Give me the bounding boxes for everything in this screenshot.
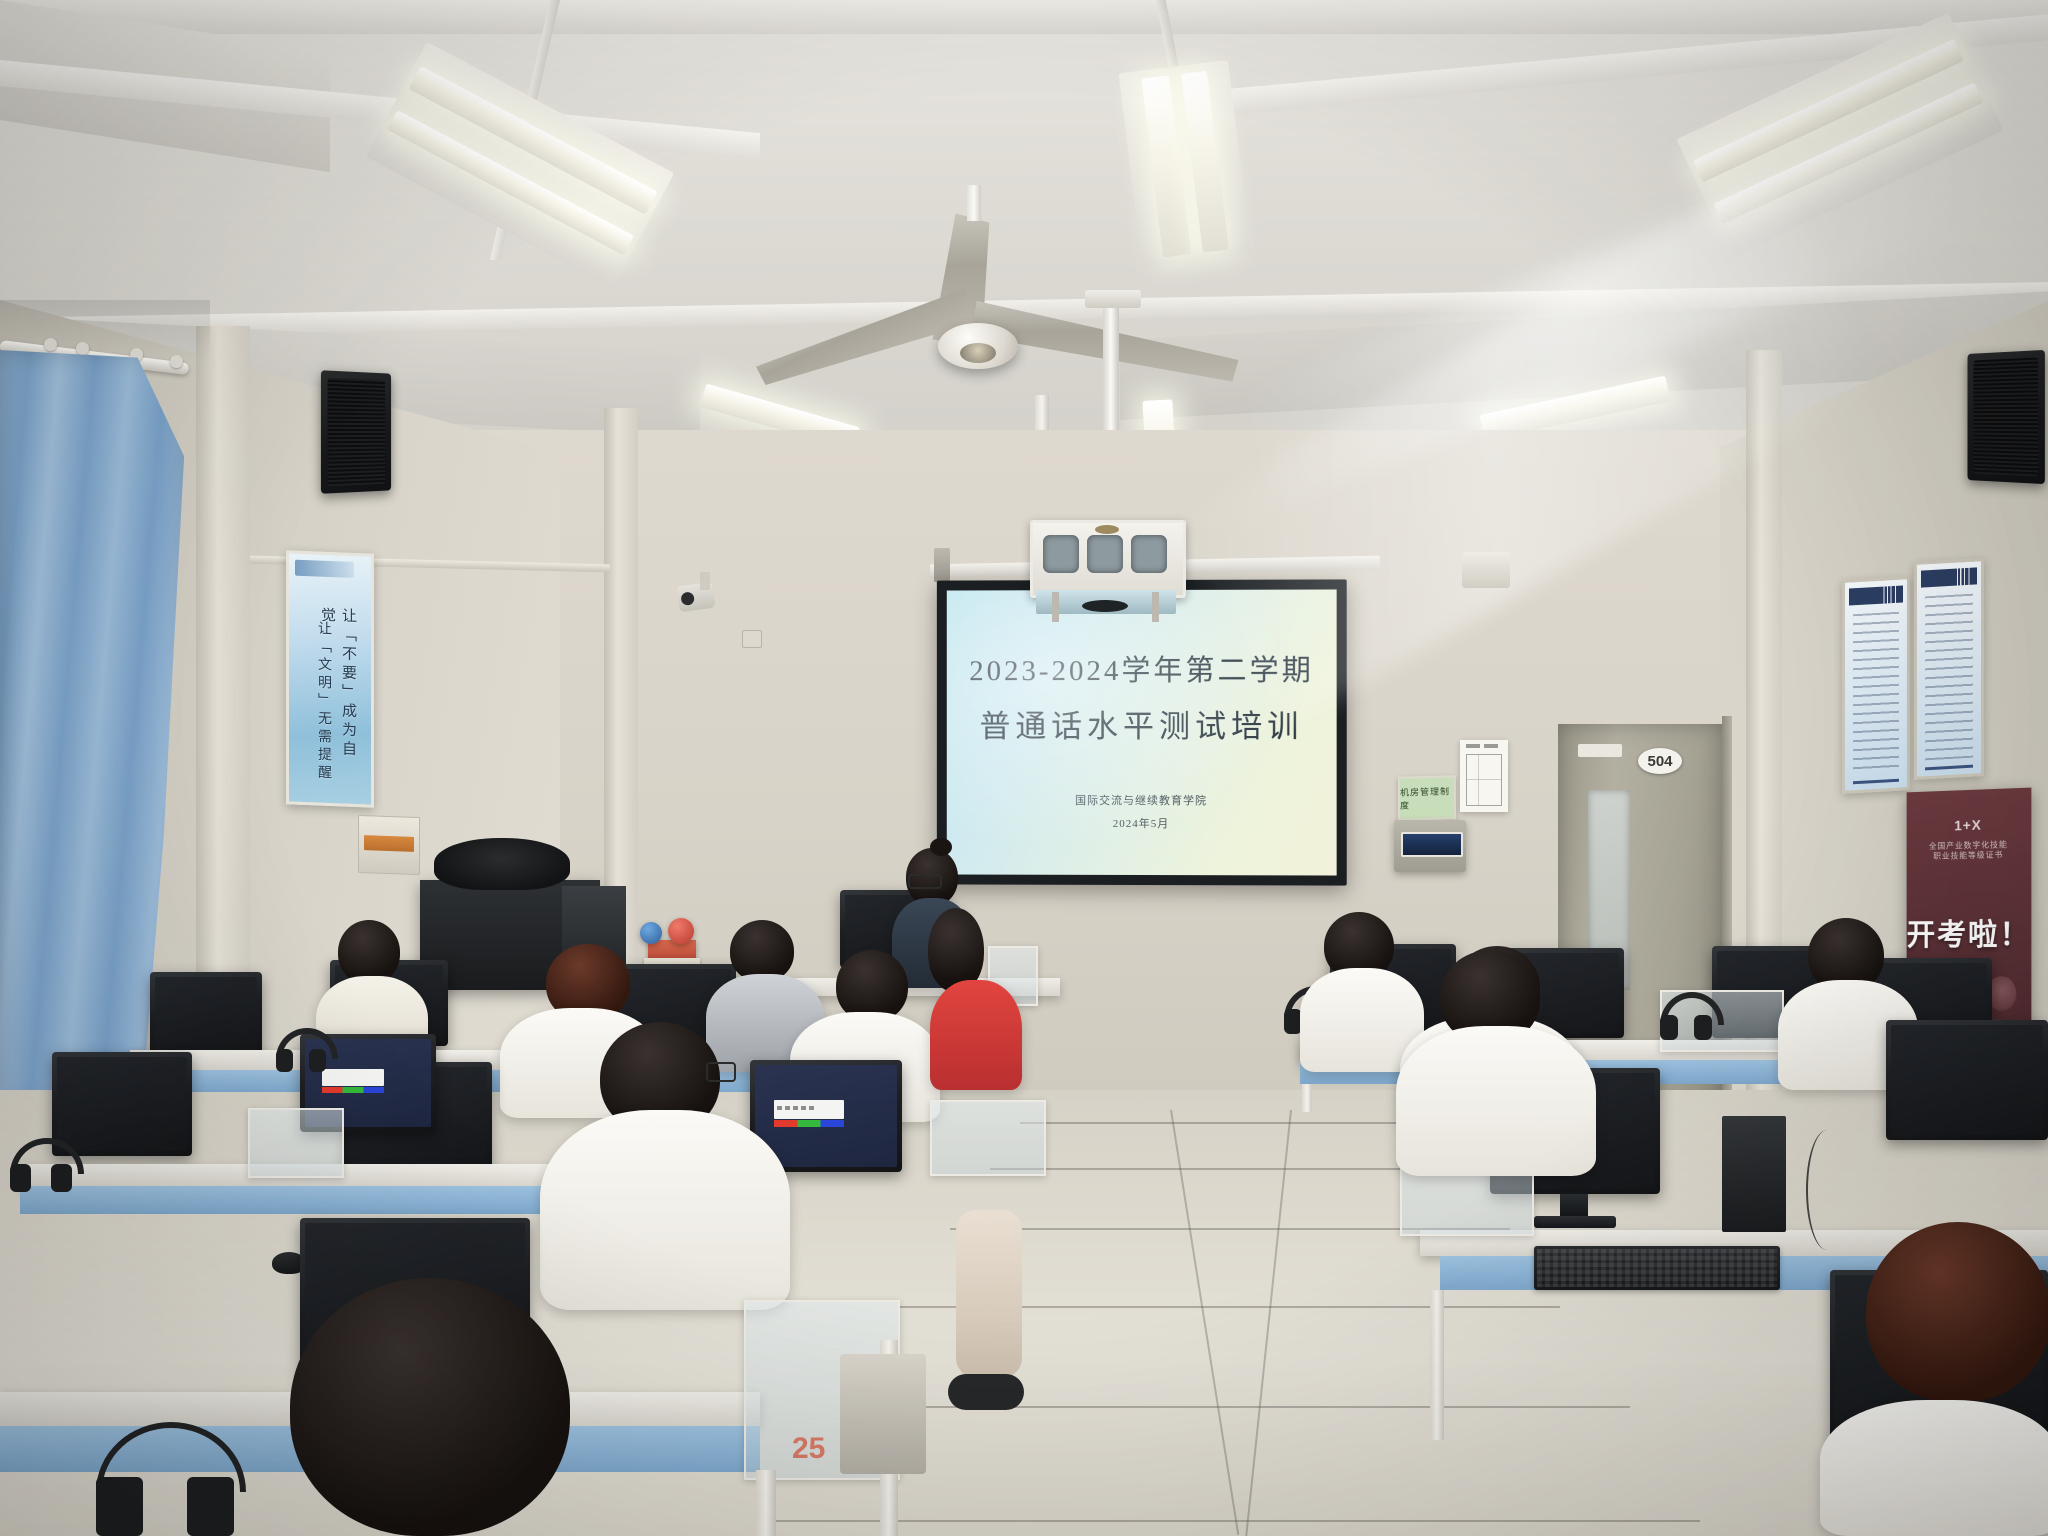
monitor-base-mid-right bbox=[1534, 1216, 1616, 1228]
speaker-grill-right bbox=[1973, 357, 2038, 476]
monitor-mid-left-1 bbox=[52, 1052, 192, 1156]
monitor-dialog-box-2 bbox=[322, 1069, 385, 1086]
student-leg-aisle bbox=[956, 1210, 1022, 1378]
student-body-mid-right bbox=[1396, 1026, 1596, 1176]
floor-tile-line-h2 bbox=[990, 1168, 1470, 1170]
projector-mount-bracket bbox=[1085, 290, 1141, 308]
wall-poster-left: 让「不要」成为自觉 让「文明」无需提醒 bbox=[286, 550, 374, 807]
slide-title-line2: 普通话水平测试培训 bbox=[947, 701, 1337, 746]
monitor-mid-right-2 bbox=[1886, 1020, 2048, 1140]
student-glasses-mid-1 bbox=[706, 1062, 736, 1082]
headphone-cup-left-lm bbox=[10, 1164, 31, 1192]
student-body-near-right bbox=[1820, 1400, 2048, 1536]
headphone-pile bbox=[434, 838, 570, 890]
notice-header-bar bbox=[1849, 585, 1903, 605]
wall-paper-schedule bbox=[1460, 740, 1508, 812]
projector-cage-window-2 bbox=[1087, 535, 1123, 573]
camera-lens bbox=[680, 591, 695, 606]
desk-divider-mid-1 bbox=[248, 1108, 344, 1178]
slide-date: 2024年5月 bbox=[947, 815, 1337, 832]
poster-line-2: 让「文明」无需提醒 bbox=[313, 620, 333, 791]
curtain-rod-ring-4 bbox=[170, 355, 183, 368]
poster-logo bbox=[295, 560, 354, 578]
student-body-mid-1 bbox=[540, 1110, 790, 1310]
notice-header-bar-2 bbox=[1921, 567, 1977, 587]
fan-downrod bbox=[967, 185, 981, 221]
headphone-cup-left-lu bbox=[276, 1049, 293, 1072]
monitor-color-bars bbox=[774, 1120, 844, 1127]
monitor-dialog-text bbox=[777, 1106, 817, 1110]
classroom-photo: 让「不要」成为自觉 让「文明」无需提醒 2023-2024学年第二学期 普通话水… bbox=[0, 0, 2048, 1536]
av-control-panel[interactable] bbox=[1394, 820, 1466, 872]
curtain-rod-ring-2 bbox=[76, 342, 89, 355]
student-head-near-foreground bbox=[290, 1278, 570, 1536]
notice-board-left bbox=[1842, 576, 1910, 794]
chair-near-left[interactable] bbox=[840, 1354, 926, 1474]
green-sign-text: 机房管理制度 bbox=[1400, 784, 1454, 811]
sandal-aisle bbox=[948, 1374, 1024, 1410]
banner-headline: 开考啦！ bbox=[1907, 910, 2032, 955]
headphones-left-mid[interactable] bbox=[10, 1138, 72, 1192]
banner-subtitle: 全国产业数字化技能 职业技能等级证书 bbox=[1907, 839, 2032, 862]
ceiling-beam-1 bbox=[0, 0, 2048, 34]
student-head-far-1 bbox=[338, 920, 400, 984]
wall-pillar-center-left bbox=[604, 408, 638, 968]
pc-tower-right bbox=[1722, 1116, 1786, 1232]
teacher-hair-bun bbox=[930, 838, 952, 856]
room-number-plate: 504 bbox=[1638, 748, 1682, 774]
monitor-color-bars-2 bbox=[322, 1087, 385, 1093]
banner-tag: 1+X bbox=[1907, 815, 2032, 835]
notice-body-text-2 bbox=[1925, 594, 1973, 761]
green-notice-sign: 机房管理制度 bbox=[1398, 775, 1456, 821]
projector-cage-window-3 bbox=[1131, 535, 1167, 573]
student-body-red-shirt bbox=[930, 980, 1022, 1090]
headphones-far-right-2 bbox=[1660, 992, 1712, 1040]
keyboard-mid-right[interactable] bbox=[1534, 1246, 1780, 1290]
notice-body-text bbox=[1853, 612, 1899, 775]
headphones-left-upper[interactable] bbox=[276, 1028, 326, 1072]
monitor-far-left-1 bbox=[150, 972, 262, 1056]
wall-speaker-right bbox=[1968, 350, 2045, 484]
paper-table-grid bbox=[1466, 754, 1502, 806]
floor-tile-line-h1 bbox=[1020, 1122, 1440, 1124]
headphone-cup-left-fg bbox=[96, 1477, 143, 1536]
projector-cage-leg-right bbox=[1152, 592, 1159, 622]
wall-equipment-box bbox=[358, 815, 420, 875]
ceiling-fan bbox=[760, 215, 1240, 390]
notice-footer-bar-2 bbox=[1925, 765, 1973, 771]
screen-rail-bracket bbox=[934, 548, 950, 582]
headphone-cup-right-lu bbox=[309, 1049, 326, 1072]
teacher-glasses bbox=[908, 874, 942, 889]
headphones-foreground[interactable] bbox=[96, 1422, 234, 1536]
student-head-near-right bbox=[1866, 1222, 2048, 1402]
wall-speaker-left bbox=[321, 370, 391, 494]
slide-title-line1: 2023-2024学年第二学期 bbox=[947, 647, 1337, 689]
wall-vent-panel bbox=[1462, 552, 1510, 588]
control-panel-display bbox=[1401, 832, 1463, 857]
equipment-box-label bbox=[364, 835, 414, 851]
door-name-card bbox=[1578, 744, 1622, 757]
projector-cage-badge bbox=[1095, 525, 1119, 534]
student-head-far-3 bbox=[730, 920, 794, 982]
fan-light-cap bbox=[960, 343, 996, 363]
projector-lens bbox=[1082, 600, 1128, 612]
projected-slide: 2023-2024学年第二学期 普通话水平测试培训 国际交流与继续教育学院 20… bbox=[947, 589, 1337, 875]
curtain-rod-ring-1 bbox=[44, 338, 57, 351]
desk-leg-mid-right bbox=[1430, 1290, 1444, 1440]
desk-divider-mid-2 bbox=[930, 1100, 1046, 1176]
speaker-grill-left bbox=[328, 378, 386, 487]
ball-blue bbox=[640, 922, 662, 944]
projector-cage bbox=[1030, 520, 1186, 598]
headphone-cup-right-fg bbox=[187, 1477, 234, 1536]
ball-red bbox=[668, 918, 694, 944]
notice-board-right bbox=[1914, 558, 1984, 780]
projector-cage-leg-left bbox=[1052, 592, 1059, 622]
slide-organization: 国际交流与继续教育学院 bbox=[947, 792, 1337, 808]
headphone-cup-right-2 bbox=[1694, 1015, 1712, 1040]
wall-socket-back[interactable] bbox=[742, 630, 762, 648]
cable-right bbox=[1806, 1130, 1848, 1250]
paper-title-line bbox=[1466, 744, 1502, 748]
camera-bracket bbox=[700, 572, 710, 590]
desk-number-label: 25 bbox=[792, 1432, 825, 1466]
desk-leg-near-left-2 bbox=[756, 1470, 776, 1536]
projector-cage-window-1 bbox=[1043, 535, 1079, 573]
projection-screen: 2023-2024学年第二学期 普通话水平测试培训 国际交流与继续教育学院 20… bbox=[937, 579, 1347, 885]
monitor-stand-mid-right bbox=[1560, 1194, 1588, 1216]
notice-footer-bar bbox=[1853, 779, 1899, 785]
headphone-cup-left-2 bbox=[1660, 1015, 1678, 1040]
headphone-cup-right-lm bbox=[51, 1164, 72, 1192]
